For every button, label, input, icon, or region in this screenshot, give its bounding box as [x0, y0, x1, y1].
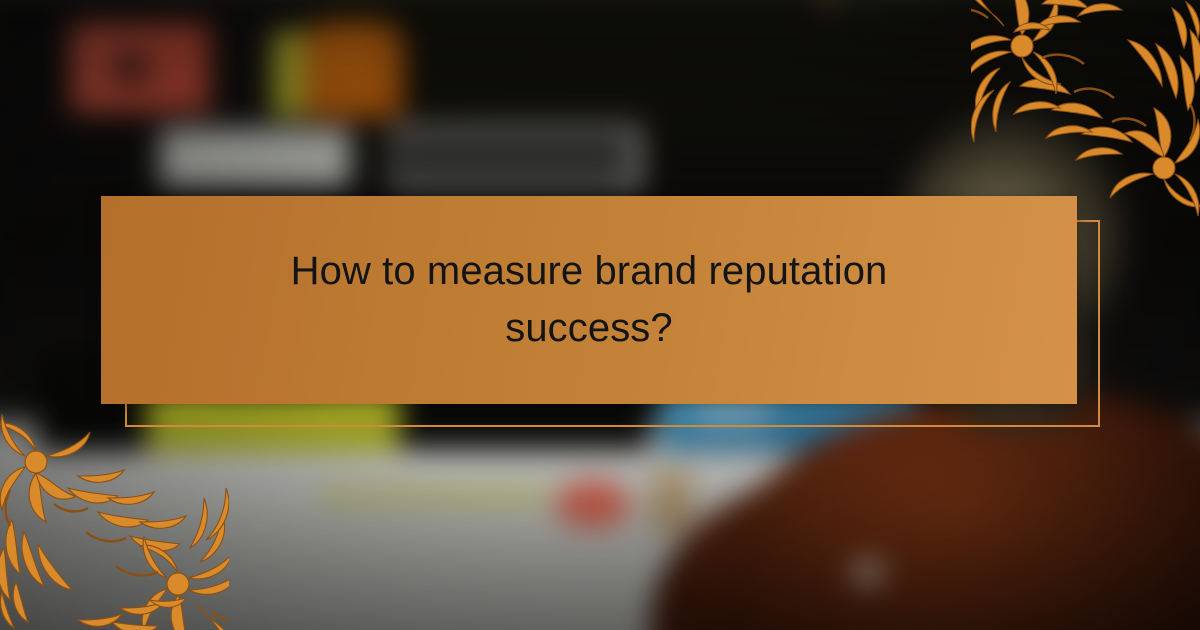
background-monitor-screen [392, 132, 632, 186]
background-orange-object [304, 20, 404, 118]
background-red-poster [70, 22, 210, 112]
background-person-highlight [850, 558, 886, 588]
background-desk-item-red [556, 480, 630, 528]
page-title: How to measure brand reputation success? [249, 243, 929, 357]
background-shelf-item-c [908, 0, 920, 6]
background-shelf-item-a [816, 0, 844, 6]
background-desk-item-tan [650, 468, 694, 534]
background-white-box [160, 128, 350, 186]
title-banner: How to measure brand reputation success? [101, 196, 1077, 404]
background-shelf-item-b [864, 0, 880, 8]
background-desk-item-yellow [320, 488, 550, 504]
banner-canvas: How to measure brand reputation success? [0, 0, 1200, 630]
